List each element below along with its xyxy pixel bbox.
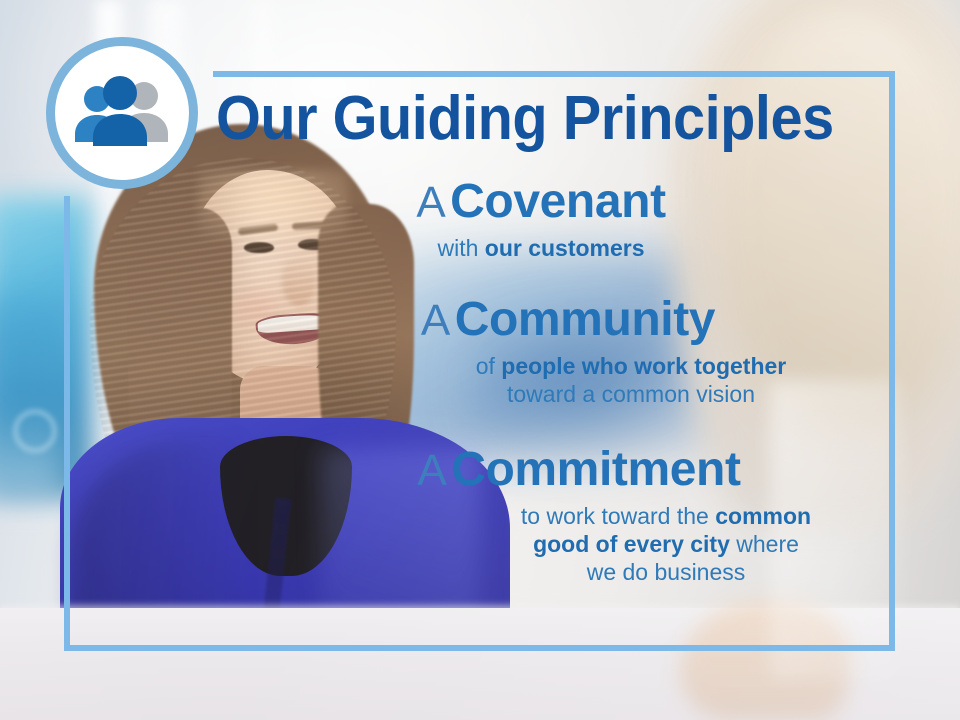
subtext-bold: our customers [485,235,645,261]
principle-subtext: to work toward the common good of every … [456,502,876,586]
principle-article: A [417,446,446,495]
people-group-icon [70,76,174,150]
principle-heading: A Community [260,296,876,345]
subtext-line: to work toward the common [456,502,876,530]
vw-logo-blurred-icon [14,410,56,452]
principles-list: A Covenant with our customers A Communit… [216,178,876,592]
poster-canvas: FLOW AUTOMOTIVE FLOW [0,0,960,720]
principle-keyword: Covenant [450,175,666,228]
principle-subtext: of people who work together toward a com… [396,352,866,408]
subtext-plain: where [730,531,799,557]
frame-border-bottom [64,645,895,651]
principle-covenant: A Covenant with our customers [206,178,876,262]
subtext-bold: common [715,503,811,529]
dealership-display-panel [0,300,66,500]
subtext-line: toward a common vision [396,380,866,408]
subtext-line: good of every city where [456,530,876,558]
subtext-bold: good of every city [533,531,730,557]
principle-article: A [421,296,450,345]
principle-subtext: with our customers [206,234,876,262]
subtext-plain: to work toward the [521,503,715,529]
principle-community: A Community of people who work together … [260,296,876,408]
frame-border-top [213,71,895,77]
principle-commitment: A Commitment to work toward the common g… [282,446,876,586]
principle-keyword: Commitment [451,443,740,496]
subtext-line: of people who work together [396,352,866,380]
principle-heading: A Commitment [282,446,876,495]
subtext-line: we do business [456,558,876,586]
frame-border-right [889,71,895,651]
principle-heading: A Covenant [206,178,876,227]
page-title: Our Guiding Principles [216,88,830,150]
principle-article: A [416,178,445,227]
subtext-plain: of [476,353,502,379]
subtext-bold: people who work together [501,353,786,379]
frame-border-left [64,196,70,651]
subtext-plain: with [437,235,484,261]
people-group-badge [46,37,198,189]
principle-keyword: Community [455,293,715,346]
